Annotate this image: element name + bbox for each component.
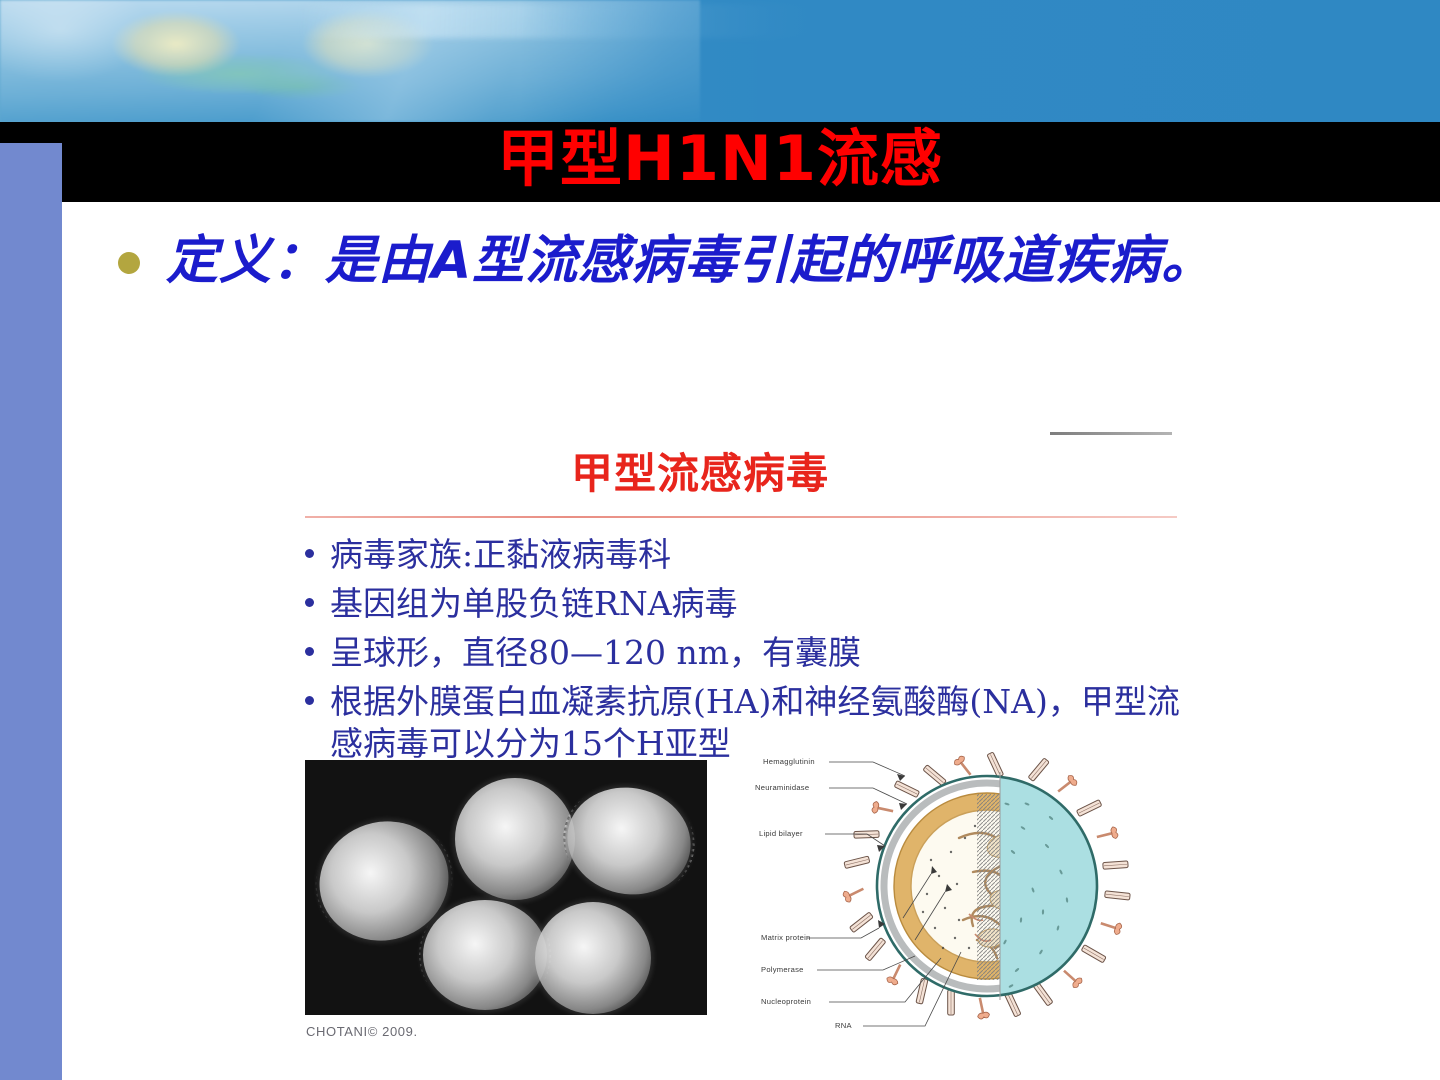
list-item-label: 呈球形，直径80—120 nm，有囊膜 xyxy=(330,632,1195,674)
list-item: 基因组为单股负链RNA病毒 xyxy=(305,583,1195,625)
electron-micrograph xyxy=(305,760,707,1015)
label-neuraminidase: Neuraminidase xyxy=(755,783,809,792)
bullet-dot-icon xyxy=(305,598,314,607)
list-item-label: 基因组为单股负链RNA病毒 xyxy=(330,583,1195,625)
slide-title: 甲型H1N1流感 xyxy=(0,119,1440,199)
virion-particle xyxy=(423,900,547,1010)
label-lipid-bilayer: Lipid bilayer xyxy=(759,829,803,838)
virion-particle xyxy=(557,776,700,905)
figure-title: 甲型流感病毒 xyxy=(250,448,1150,500)
label-polymerase: Polymerase xyxy=(761,965,804,974)
bullet-dot-icon xyxy=(305,696,314,705)
main-bullet-text: 定义：是由A型流感病毒引起的呼吸道疾病。 xyxy=(166,231,1214,291)
figure-top-rule xyxy=(1050,432,1172,435)
virion-particle xyxy=(455,778,575,900)
label-matrix-protein: Matrix protein xyxy=(761,933,811,942)
embedded-figure: 甲型流感病毒 病毒家族:正黏液病毒科 基因组为单股负链RNA病毒 呈球形，直径8… xyxy=(250,412,1190,1072)
matrix-protein-hatch xyxy=(977,794,1001,980)
bullet-dot-icon xyxy=(118,252,140,274)
influenza-virion-schematic: Hemagglutinin Neuraminidase Lipid bilaye… xyxy=(755,742,1180,1032)
label-nucleoprotein: Nucleoprotein xyxy=(761,997,811,1006)
list-item: 病毒家族:正黏液病毒科 xyxy=(305,534,1195,576)
figure-divider-rule xyxy=(305,516,1177,518)
micrograph-caption: CHOTANI© 2009. xyxy=(306,1024,418,1039)
main-bullet-item: 定义：是由A型流感病毒引起的呼吸道疾病。 xyxy=(118,222,1428,300)
list-item-label: 病毒家族:正黏液病毒科 xyxy=(330,534,1195,576)
header-image-band xyxy=(0,0,1440,122)
photo-fade-overlay xyxy=(520,0,840,122)
left-accent-bar xyxy=(0,143,62,1080)
label-hemagglutinin: Hemagglutinin xyxy=(763,757,815,766)
bullet-dot-icon xyxy=(305,549,314,558)
bullet-dot-icon xyxy=(305,647,314,656)
virion-particle xyxy=(535,902,651,1014)
label-rna: RNA xyxy=(835,1021,852,1030)
list-item: 呈球形，直径80—120 nm，有囊膜 xyxy=(305,632,1195,674)
figure-bullet-list: 病毒家族:正黏液病毒科 基因组为单股负链RNA病毒 呈球形，直径80—120 n… xyxy=(305,534,1195,772)
